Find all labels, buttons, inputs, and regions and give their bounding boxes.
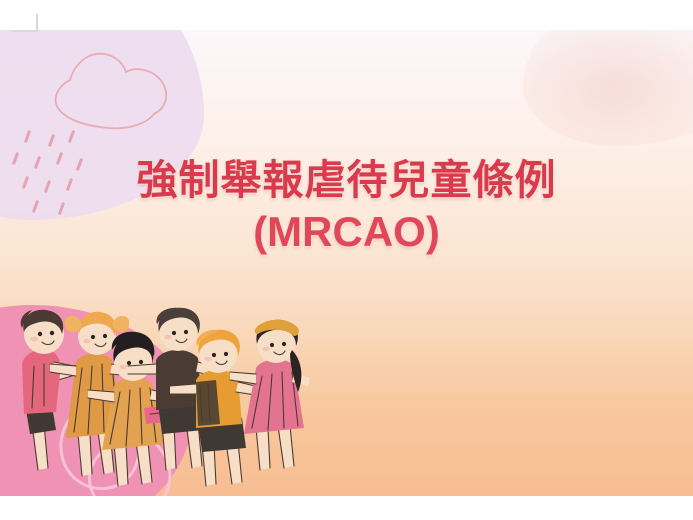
slide-canvas: 強制舉報虐待兒童條例 (MRCAO) .sk { fill:#f6dfc6; }… — [0, 30, 693, 496]
presentation-slide: 強制舉報虐待兒童條例 (MRCAO) .sk { fill:#f6dfc6; }… — [0, 0, 693, 520]
children-illustration: .sk { fill:#f6dfc6; } .ln { stroke:#4a3b… — [4, 306, 310, 496]
slide-title-chinese: 強制舉報虐待兒童條例 — [0, 158, 693, 204]
slide-title-block: 強制舉報虐待兒童條例 (MRCAO) — [0, 158, 693, 255]
bottom-margin-band — [0, 496, 693, 520]
corner-crop-mark — [12, 14, 38, 32]
slide-title-english: (MRCAO) — [0, 208, 693, 255]
topright-wash-decoration — [523, 30, 693, 146]
top-margin-band — [0, 0, 693, 30]
